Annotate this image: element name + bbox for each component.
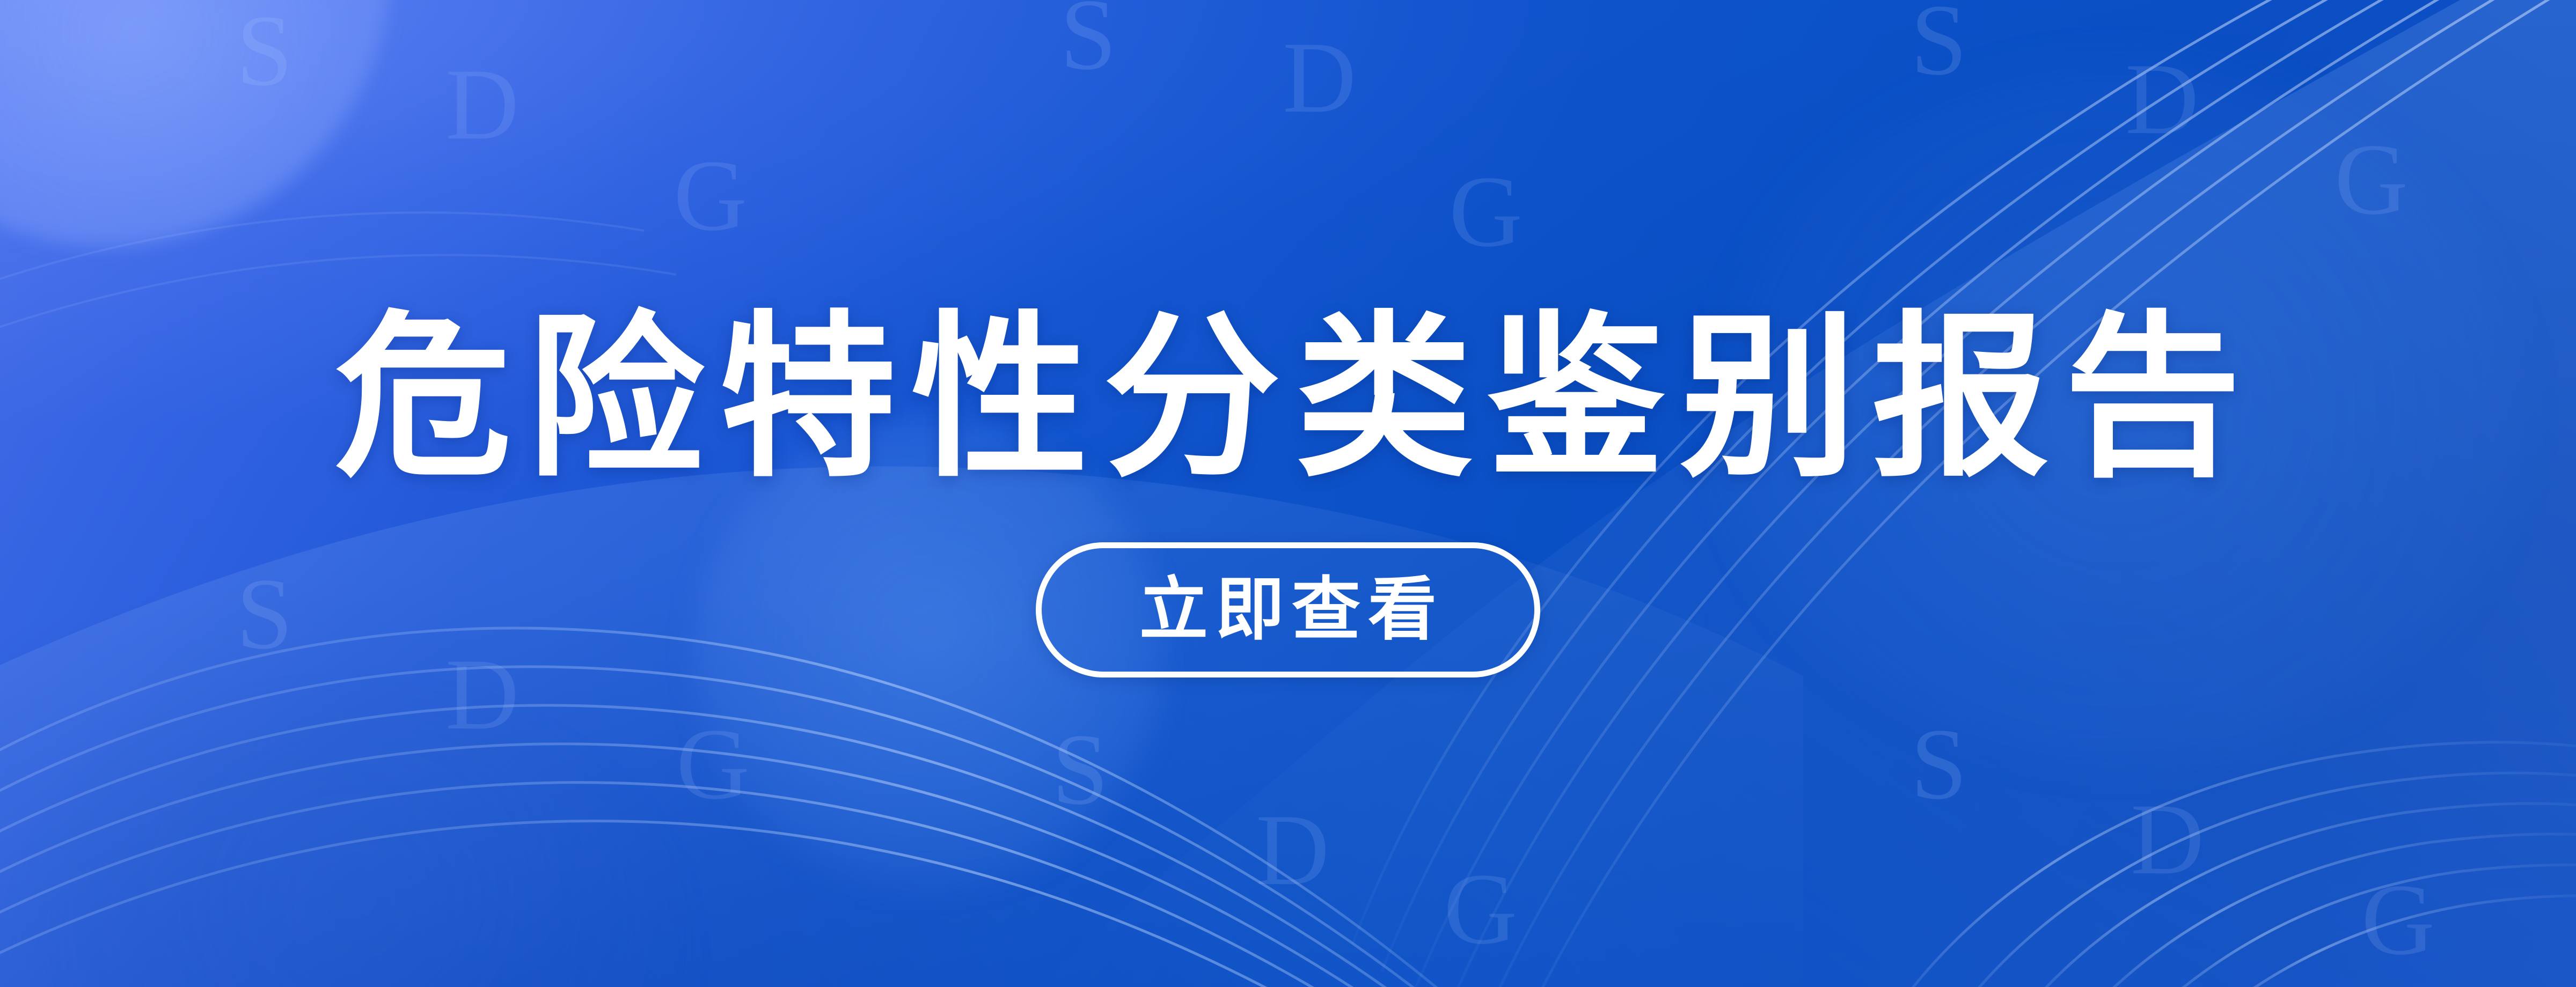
view-now-button-label: 立即查看	[1132, 576, 1444, 644]
view-now-button[interactable]: 立即查看	[1036, 542, 1540, 677]
banner-content: 危险特性分类鉴别报告 立即查看	[0, 0, 2576, 987]
banner-title: 危险特性分类鉴别报告	[320, 310, 2256, 487]
promo-banner: SDGSDGSDGSDGSDGSDG 危险特性分类鉴别报告 立即查看	[0, 0, 2576, 987]
